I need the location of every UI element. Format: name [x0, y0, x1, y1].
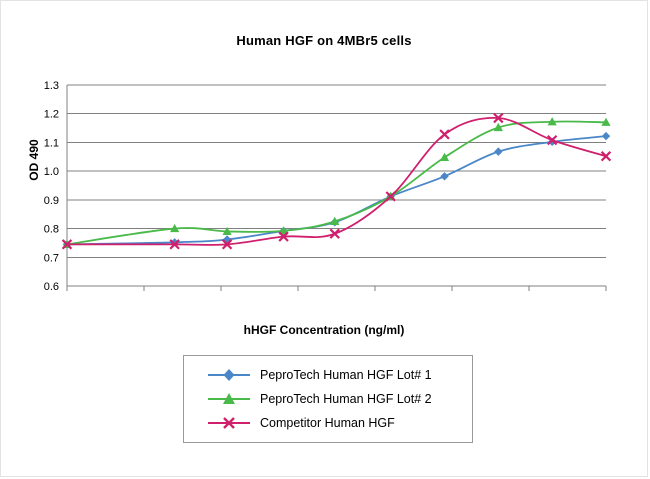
legend-marker-x-icon — [206, 414, 252, 432]
legend-item[interactable]: Competitor Human HGF — [184, 411, 472, 435]
y-tick-label: 1.1 — [44, 137, 59, 149]
y-tick-label: 0.8 — [44, 224, 59, 236]
x-tick-label: 0.100 — [284, 295, 312, 296]
legend-item[interactable]: PeproTech Human HGF Lot# 2 — [184, 387, 472, 411]
y-tick-label: 0.9 — [44, 195, 59, 207]
chart-legend: PeproTech Human HGF Lot# 1 PeproTech Hum… — [183, 355, 473, 443]
y-tick-label: 1.3 — [44, 80, 59, 92]
x-tick-label: 1.000 — [361, 295, 389, 296]
legend-label: PeproTech Human HGF Lot# 2 — [260, 392, 432, 406]
page-title: Human HGF on 4MBr5 cells — [1, 33, 647, 48]
y-tick-label: 0.6 — [44, 281, 59, 293]
x-tick-label: 0.010 — [207, 295, 235, 296]
y-tick-label: 0.7 — [44, 252, 59, 264]
legend-label: Competitor Human HGF — [260, 416, 395, 430]
data-point-marker — [440, 130, 449, 139]
chart-figure: Human HGF on 4MBr5 cells OD 490 0.60.70.… — [0, 0, 648, 477]
legend-label: PeproTech Human HGF Lot# 1 — [260, 368, 432, 382]
x-tick-label: 0.001 — [130, 295, 158, 296]
y-tick-label: 1.2 — [44, 109, 59, 121]
x-axis-label: hHGF Concentration (ng/ml) — [1, 323, 647, 337]
x-tick-label: 0.000 — [53, 295, 81, 296]
x-tick-label: 1000.000 — [583, 295, 629, 296]
x-tick-label: 100.000 — [509, 295, 549, 296]
legend-marker-diamond-icon — [206, 366, 252, 384]
legend-item[interactable]: PeproTech Human HGF Lot# 1 — [184, 363, 472, 387]
x-tick-label: 10.000 — [435, 295, 469, 296]
y-tick-label: 1.0 — [44, 166, 59, 178]
plot-svg: 0.60.70.80.91.01.11.21.30.0000.0010.0100… — [1, 71, 649, 296]
data-point-marker — [602, 132, 610, 140]
plot-area: 0.60.70.80.91.01.11.21.30.0000.0010.0100… — [1, 71, 649, 296]
data-point-marker — [440, 172, 448, 180]
data-point-marker — [330, 229, 339, 238]
data-point-marker — [494, 147, 502, 155]
legend-marker-triangle-icon — [206, 390, 252, 408]
data-point-marker — [440, 153, 449, 161]
